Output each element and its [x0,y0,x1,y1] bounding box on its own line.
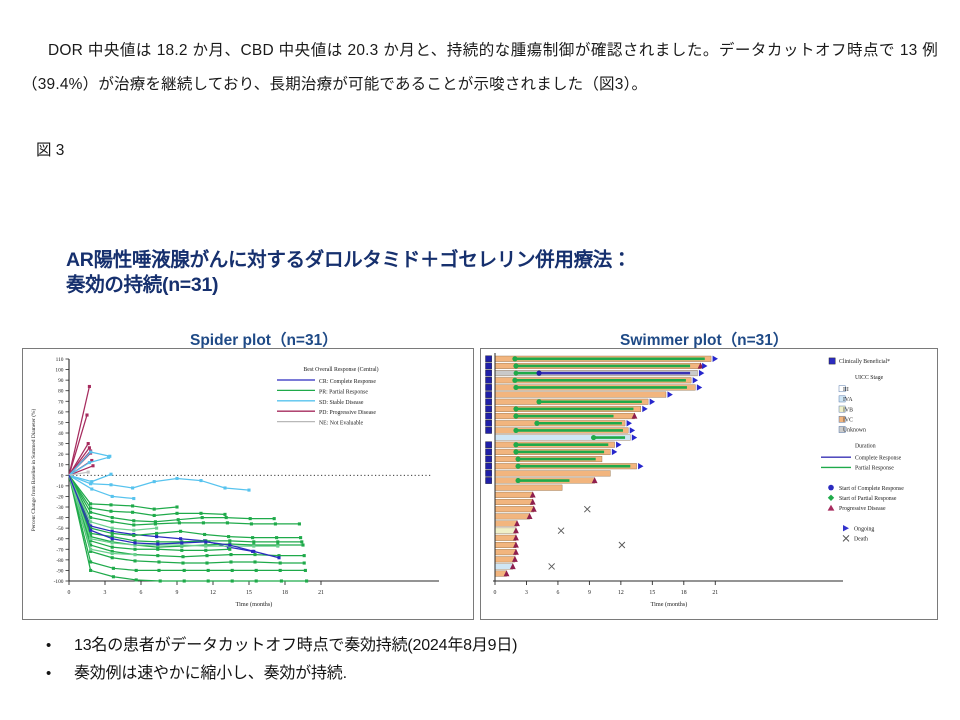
spider-marker [90,487,93,490]
y-tick-label: 110 [56,357,64,363]
spider-marker [179,530,182,533]
spider-marker [109,503,112,506]
start-of-partial-response-marker [513,442,518,447]
spider-marker [153,508,156,511]
swimmer-bar-26 [495,535,516,541]
ongoing-marker [667,391,672,397]
spider-marker [280,579,283,582]
x-axis-label: Time (months) [651,601,688,608]
clinically-beneficial-marker [486,427,492,433]
legend-label-PR: PR: Partial Response [319,389,368,395]
spider-marker [132,497,135,500]
spider-marker [252,545,255,548]
spider-marker [112,575,115,578]
clinically-beneficial-marker [486,391,492,397]
x-tick-label: 18 [681,590,687,596]
y-tick-label: 10 [58,463,64,469]
spider-marker [109,510,112,513]
x-tick-label: 3 [525,590,528,596]
spider-legend: Best Overall Response (Central)CR: Compl… [277,366,379,427]
legend-label: IVB [843,407,853,413]
spider-line-P21 [69,475,303,547]
clinically-beneficial-marker [486,442,492,448]
legend-swatch [829,358,835,364]
spider-marker [247,489,250,492]
start-of-partial-response-marker [591,435,596,440]
legend-label: IVA [843,397,853,403]
start-of-partial-response-marker [513,449,518,454]
ongoing-marker [650,399,655,405]
clinically-beneficial-marker [486,463,492,469]
spider-plot-svg: 1101009080706050403020100-10-20-30-40-50… [23,349,473,619]
y-tick-label: 0 [61,473,64,479]
start-of-partial-response-marker [534,421,539,426]
spider-marker [199,479,202,482]
x-tick-label: 6 [140,590,143,596]
spider-marker [89,450,92,453]
x-tick-label: 0 [494,590,497,596]
bullet-text-2: 奏効例は速やかに縮小し、奏効が持続. [74,660,347,688]
spider-line-P12 [69,475,249,490]
x-axis-label: Time (months) [236,601,273,608]
y-tick-label: 70 [58,399,64,405]
spider-marker [111,556,114,559]
spider-marker [157,569,160,572]
spider-marker [111,552,114,555]
swimmer-bar-30 [495,564,513,570]
spider-marker [255,579,258,582]
legend-swatch [828,485,834,491]
y-tick-label: -100 [54,579,64,585]
clinically-beneficial-marker [486,406,492,412]
spider-marker [131,504,134,507]
swimmer-bar-29 [495,557,515,563]
legend-label-PD: PD: Progressive Disease [319,410,376,416]
spider-marker [132,523,135,526]
spider-line-P17 [69,475,299,525]
spider-marker [156,554,159,557]
spider-marker [251,536,254,539]
charts-container: 1101009080706050403020100-10-20-30-40-50… [22,348,938,620]
figure-caption: 図 3 [36,138,938,160]
start-of-partial-response-marker [512,378,517,383]
death-marker [549,563,555,569]
bullet-marker: • [46,660,74,688]
swimmer-bar-27 [495,542,516,548]
legend-group-title: Duration [855,444,876,450]
ongoing-marker [697,384,702,390]
spider-marker [253,560,256,563]
spider-marker [303,554,306,557]
ongoing-marker [632,434,637,440]
list-item: • 奏効例は速やかに縮小し、奏効が持続. [46,660,517,688]
spider-marker [133,541,136,544]
spider-marker [183,569,186,572]
legend-label: Start of Partial Response [839,495,897,502]
spider-marker [89,507,92,510]
spider-marker [199,512,202,515]
spider-marker [155,527,158,530]
clinically-beneficial-marker [486,449,492,455]
spider-marker [89,482,92,485]
spider-marker [274,522,277,525]
spider-marker [132,519,135,522]
spider-marker [228,539,231,542]
spider-marker [301,544,304,547]
start-of-partial-response-marker [513,363,518,368]
swimmer-bar-22 [495,506,534,512]
legend-label-SD: SD: Stable Disease [319,400,364,406]
legend-label: Partial Response [855,466,894,472]
spider-marker [177,518,180,521]
ongoing-marker [612,449,617,455]
spider-marker [85,413,88,416]
spider-marker [181,561,184,564]
spider-marker [89,569,92,572]
spider-marker [89,529,92,532]
spider-marker [91,464,94,467]
spider-marker [178,521,181,524]
spider-marker [175,477,178,480]
x-tick-label: 0 [68,590,71,596]
ongoing-marker [630,427,635,433]
start-of-partial-response-marker [513,406,518,411]
spider-marker [109,473,112,476]
spider-marker [179,537,182,540]
spider-marker [156,548,159,551]
bullet-marker: • [46,632,74,660]
ongoing-marker [627,420,632,426]
spider-marker [180,541,183,544]
spider-marker [223,513,226,516]
spider-marker [204,545,207,548]
spider-marker [157,560,160,563]
document-body: DOR 中央値は 18.2 か月、CBD 中央値は 20.3 か月と、持続的な腫… [0,0,960,160]
spider-marker [223,486,226,489]
spider-marker [111,520,114,523]
spider-marker [89,511,92,514]
spider-marker [225,516,228,519]
x-tick-label: 15 [246,590,252,596]
spider-marker [305,579,308,582]
start-of-partial-response-marker [512,356,517,361]
swimmer-bar-6 [495,392,666,398]
start-of-partial-response-marker [515,478,520,483]
clinically-beneficial-marker [486,420,492,426]
spider-plot-panel: 1101009080706050403020100-10-20-30-40-50… [22,348,474,620]
ongoing-marker [699,370,704,376]
spider-marker [255,569,258,572]
legend-swatch [843,525,849,531]
spider-marker [89,502,92,505]
spider-marker [204,549,207,552]
x-tick-label: 3 [104,590,107,596]
swimmer-plot-svg: 036912151821Time (months)Clinically Bene… [481,349,937,619]
spider-marker [201,516,204,519]
spider-marker [111,495,114,498]
spider-marker [111,527,114,530]
y-axis-label: Percent Change from Baseline in Summed D… [30,408,37,531]
spider-marker [155,532,158,535]
paragraph-text: DOR 中央値は 18.2 か月、CBD 中央値は 20.3 か月と、持続的な腫… [22,42,938,93]
spider-marker [231,579,234,582]
swimmer-legend: Clinically Beneficial*UICC StageIIIIVAIV… [821,358,904,543]
spider-marker [205,561,208,564]
spider-marker [303,561,306,564]
swimmer-plot-heading: Swimmer plot（n=31） [620,328,788,350]
spider-marker [226,521,229,524]
x-tick-label: 15 [649,590,655,596]
x-tick-label: 9 [176,590,179,596]
swimmer-plot-panel: 036912151821Time (months)Clinically Bene… [480,348,938,620]
y-tick-label: -70 [56,547,63,553]
legend-label: IVC [843,418,853,424]
spider-marker [132,529,135,532]
swimmer-bar-20 [495,492,533,498]
y-tick-label: 30 [58,442,64,448]
spider-marker [133,553,136,556]
swimmer-bar-21 [495,499,533,505]
document-paragraph: DOR 中央値は 18.2 か月、CBD 中央値は 20.3 か月と、持続的な腫… [22,34,938,102]
slide-bullet-list: • 13名の患者がデータカットオフ時点で奏効持続(2024年8月9日) • 奏効… [46,632,517,688]
legend-label: III [843,387,849,393]
spider-marker [298,522,301,525]
spider-marker [89,537,92,540]
spider-marker [153,514,156,517]
swimmer-bar-17 [495,471,610,477]
ongoing-marker [616,442,621,448]
slide-title: AR陽性唾液腺がんに対するダロルタミド＋ゴセレリン併用療法： 奏効の持続(n=3… [66,248,866,298]
clinically-beneficial-marker [486,363,492,369]
spider-marker [275,536,278,539]
legend-label-NE: NE: Not Evaluable [319,421,364,427]
spider-marker [304,569,307,572]
clinically-beneficial-marker [486,470,492,476]
spider-marker [205,554,208,557]
spider-marker [133,548,136,551]
spider-marker [207,569,210,572]
y-tick-label: -20 [56,494,63,500]
y-tick-label: -40 [56,516,63,522]
spider-marker [227,535,230,538]
spider-marker [183,579,186,582]
x-tick-label: 9 [588,590,591,596]
spider-marker [156,542,159,545]
swimmer-bar-28 [495,549,516,555]
start-of-partial-response-marker [513,385,518,390]
spider-marker [175,505,178,508]
y-tick-label: -10 [56,484,63,490]
death-marker [619,542,625,548]
spider-marker [252,550,255,553]
spider-marker [180,549,183,552]
legend-label-CR: CR: Complete Response [319,379,376,385]
spider-marker [229,553,232,556]
spider-marker [273,517,276,520]
x-tick-label: 6 [556,590,559,596]
ongoing-marker [642,406,647,412]
legend-swatch [828,495,834,501]
spider-marker [155,535,158,538]
ongoing-marker [693,377,698,383]
swimmer-bar-23 [495,514,530,520]
spider-marker [153,480,156,483]
slide-title-line2: 奏効の持続(n=31) [66,273,866,298]
swimmer-bar-19 [495,485,562,491]
clinically-beneficial-marker [486,377,492,383]
spider-marker [111,516,114,519]
spider-marker [229,560,232,563]
spider-marker [89,548,92,551]
slide-title-line1: AR陽性唾液腺がんに対するダロルタミド＋ゴセレリン併用療法： [66,248,866,273]
swimmer-bar-24 [495,521,517,527]
y-tick-label: 90 [58,378,64,384]
clinically-beneficial-marker [486,356,492,362]
spider-marker [131,511,134,514]
ongoing-marker [713,356,718,362]
spider-marker [111,546,114,549]
spider-marker [131,486,134,489]
ongoing-marker [702,363,707,369]
start-of-complete-response-marker [536,371,541,376]
clinically-beneficial-marker [486,399,492,405]
clinically-beneficial-marker [486,456,492,462]
spider-marker [253,553,256,556]
start-of-partial-response-marker [513,428,518,433]
x-tick-label: 21 [318,590,324,596]
spider-marker [228,548,231,551]
spider-marker [300,540,303,543]
spider-marker [87,471,90,474]
y-tick-label: -50 [56,526,63,532]
spider-line-P26 [69,475,307,581]
clinically-beneficial-marker [486,477,492,483]
spider-marker [154,522,157,525]
legend-title: Best Overall Response (Central) [303,366,378,373]
clinically-beneficial-marker [486,370,492,376]
start-of-partial-response-marker [515,464,520,469]
spider-marker [87,442,90,445]
spider-marker [112,567,115,570]
spider-marker [135,569,138,572]
y-tick-label: 80 [58,389,64,395]
spider-marker [175,512,178,515]
legend-swatch [828,505,835,511]
spider-marker [111,537,114,540]
swimmer-bar-25 [495,528,516,534]
x-tick-label: 12 [618,590,624,596]
spider-marker [133,559,136,562]
list-item: • 13名の患者がデータカットオフ時点で奏効持続(2024年8月9日) [46,632,517,660]
spider-plot-heading: Spider plot（n=31） [190,328,338,350]
y-tick-label: -80 [56,558,63,564]
start-of-partial-response-marker [514,371,519,376]
death-marker [584,506,590,512]
spider-marker [109,483,112,486]
legend-label: Ongoing [854,526,874,532]
y-tick-label: 20 [58,452,64,458]
legend-label: Unknown [843,428,866,434]
spider-marker [159,579,162,582]
y-tick-label: 50 [58,420,64,426]
x-tick-label: 21 [712,590,718,596]
y-tick-label: -60 [56,537,63,543]
legend-label: Progressive Disease [839,506,886,512]
spider-marker [89,520,92,523]
y-tick-label: 60 [58,410,64,416]
spider-marker [203,533,206,536]
spider-marker [277,556,280,559]
spider-line-P16 [69,475,274,522]
spider-marker [88,446,91,449]
y-tick-label: 40 [58,431,64,437]
y-tick-label: -90 [56,568,63,574]
y-tick-label: -30 [56,505,63,511]
spider-marker [204,540,207,543]
spider-marker [228,544,231,547]
spider-marker [231,569,234,572]
x-tick-label: 12 [210,590,216,596]
death-marker [558,528,564,534]
spider-marker [250,522,253,525]
spider-marker [107,456,110,459]
legend-group-title: UICC Stage [855,375,884,381]
spider-marker [181,555,184,558]
spider-marker [207,579,210,582]
legend-label: Complete Response [855,455,902,461]
spider-marker [88,461,91,464]
y-tick-label: 100 [55,368,63,374]
spider-marker [88,385,91,388]
spider-marker [279,561,282,564]
start-of-partial-response-marker [515,456,520,461]
legend-label: Death [854,537,868,543]
bullet-text-1: 13名の患者がデータカットオフ時点で奏効持続(2024年8月9日) [74,632,517,660]
spider-marker [135,578,138,581]
spider-marker [202,521,205,524]
spider-marker [299,536,302,539]
spider-marker [249,517,252,520]
x-tick-label: 18 [282,590,288,596]
spider-marker [279,569,282,572]
legend-label: Clinically Beneficial* [839,358,890,365]
start-of-partial-response-marker [536,399,541,404]
spider-marker [276,540,279,543]
spider-marker [132,534,135,537]
legend-swatch [843,535,849,541]
clinically-beneficial-marker [486,413,492,419]
legend-label: Start of Complete Response [839,485,904,492]
ongoing-marker [638,463,643,469]
figure-slide: AR陽性唾液腺がんに対するダロルタミド＋ゴセレリン併用療法： 奏効の持続(n=3… [0,228,960,720]
spider-marker [111,541,114,544]
start-of-partial-response-marker [513,413,518,418]
spider-marker [276,545,279,548]
spider-marker [111,532,114,535]
spider-marker [252,540,255,543]
clinically-beneficial-marker [486,384,492,390]
